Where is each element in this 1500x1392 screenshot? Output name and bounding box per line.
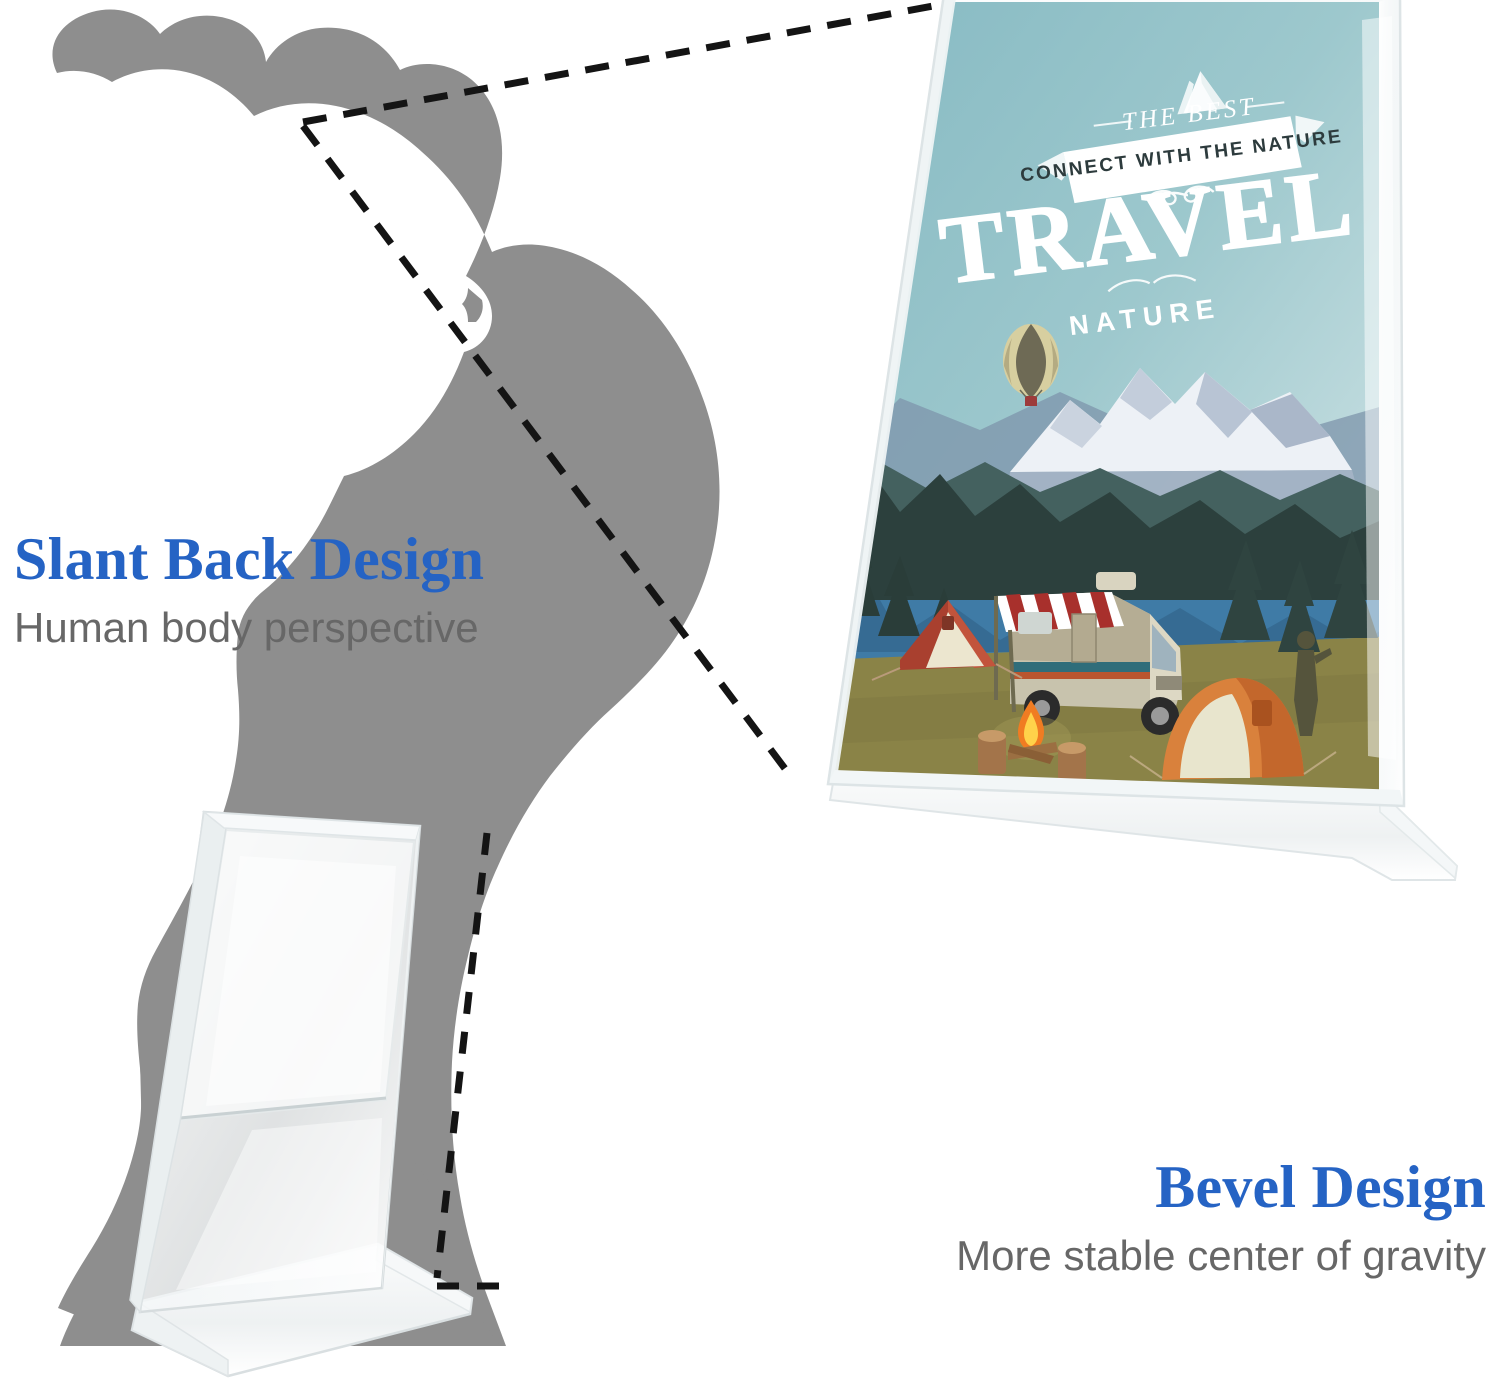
striped-awning	[996, 592, 1124, 712]
snow-mountain-range	[1010, 368, 1352, 472]
lake	[824, 600, 1404, 710]
insert-pocket	[180, 830, 414, 1120]
dashed-perspective-lines	[303, 4, 944, 778]
holder-base-foot	[830, 772, 1457, 880]
bevel-subtitle: More stable center of gravity	[956, 1228, 1486, 1284]
woman-head-profile-silhouette	[52, 9, 719, 1346]
empty-slant-back-sign-holder	[130, 812, 472, 1376]
poster-footer: NATURE	[1067, 293, 1222, 341]
empty-holder-base-foot	[132, 1244, 472, 1376]
travel-nature-camping-poster: THE BEST CONNECT WITH THE NATURE	[820, 0, 1420, 810]
slant-back-subtitle: Human body perspective	[14, 600, 484, 656]
infographic-canvas: THE BEST CONNECT WITH THE NATURE	[0, 0, 1500, 1392]
empty-holder-panel	[140, 812, 420, 1312]
slant-back-sign-holder-with-poster: THE BEST CONNECT WITH THE NATURE	[820, 0, 1457, 880]
red-a-frame-tent	[872, 600, 1022, 680]
poster-headline: TRAVEL	[934, 147, 1362, 304]
poster-banner: CONNECT WITH THE NATURE	[1017, 110, 1347, 209]
feature-block-bevel: Bevel Design More stable center of gravi…	[956, 1152, 1486, 1284]
svg-text:CONNECT WITH THE NATURE: CONNECT WITH THE NATURE	[1019, 126, 1344, 186]
acrylic-right-margin	[1379, 0, 1404, 806]
tent-icon	[1173, 69, 1228, 115]
tree-stumps	[978, 730, 1086, 786]
hot-air-balloon	[1003, 324, 1059, 406]
slant-back-title: Slant Back Design	[14, 524, 484, 594]
feature-block-slant-back: Slant Back Design Human body perspective	[14, 524, 484, 656]
orange-dome-tent	[1130, 678, 1336, 780]
empty-holder-left-edge	[130, 812, 226, 1312]
pine-forest-near	[824, 470, 1400, 620]
standing-person	[1294, 631, 1332, 736]
pine-forest-far	[824, 462, 1400, 560]
bevel-title: Bevel Design	[956, 1152, 1486, 1222]
acrylic-front-panel	[828, 0, 1404, 806]
poster-typography: THE BEST CONNECT WITH THE NATURE	[934, 69, 1362, 342]
acrylic-bottom-edge	[828, 770, 1404, 806]
bevel-angle-dashed-guide	[437, 833, 500, 1286]
rv-camper-van	[996, 572, 1182, 735]
foreground-pines	[832, 520, 962, 656]
campfire	[991, 700, 1071, 764]
ground	[820, 636, 1404, 800]
poster-eyebrow: THE BEST	[1121, 93, 1258, 136]
acrylic-left-edge	[828, 0, 956, 784]
